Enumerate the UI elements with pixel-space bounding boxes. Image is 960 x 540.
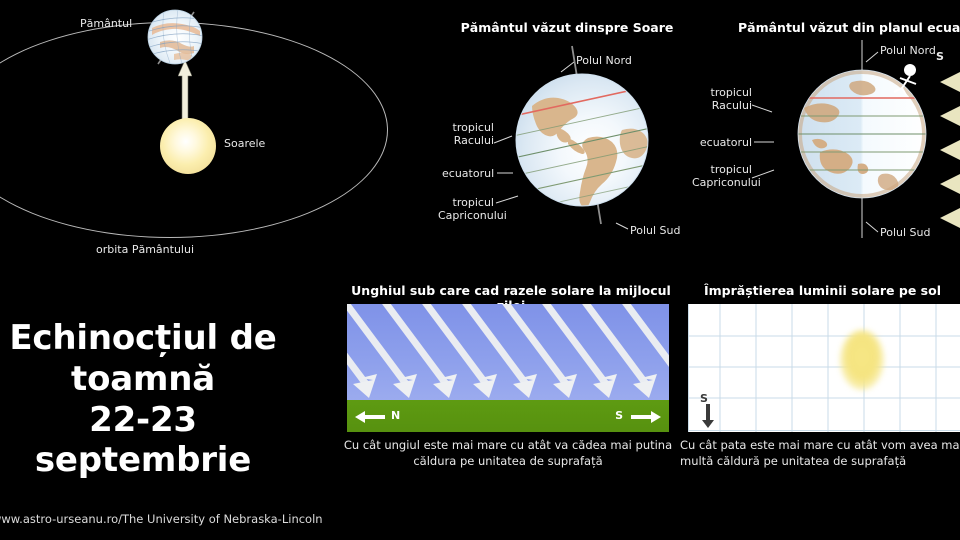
globe-equatorial-view-panel: Pământul văzut din planul ecuatorial (690, 0, 960, 272)
orbit-caption: orbita Pământului (96, 243, 194, 256)
sun-label: Soarele (224, 137, 265, 150)
orbit-panel: Pământul Soarele orbita Pământului (0, 0, 430, 272)
sun-rays-arrows-icon (930, 70, 960, 240)
tropic-capricorn-label: tropicul Capriconului (692, 163, 752, 190)
direction-row: N S (347, 406, 669, 428)
equator-label: ecuatorul (442, 167, 494, 180)
spot-chart-caption: Cu cât pata este mai mare cu atât vom av… (676, 438, 960, 469)
tropic-cancer-label: tropicul Racului (450, 121, 494, 148)
title-line-3: 22-23 septembrie (0, 400, 308, 482)
arrow-right-icon (631, 410, 661, 424)
direction-north-label: N (391, 409, 400, 422)
stick-figure-observer-icon (888, 62, 922, 96)
infographic-canvas: Pământul Soarele orbita Pământului Pămân… (0, 0, 960, 540)
sunlight-arrow-icon (178, 60, 192, 122)
tropic-cancer-label: tropicul Racului (704, 86, 752, 113)
spot-chart-figure: S (688, 304, 960, 432)
north-pole-label: Polul Nord (576, 54, 632, 67)
earth-globe-icon (144, 6, 206, 68)
earth-label: Pământul (80, 17, 132, 30)
equator-label: ecuatorul (696, 136, 752, 149)
south-pole-label: Polul Sud (880, 226, 931, 239)
title-line-2: toamnă (0, 359, 308, 400)
globe-sun-view-panel: Pământul văzut dinspre Soare (438, 0, 696, 272)
arrow-left-icon (355, 410, 385, 424)
angle-chart-panel: Unghiul sub care cad razele solare la mi… (340, 278, 676, 508)
sunlight-spot-icon (840, 330, 884, 390)
sun-label-right: S (936, 50, 944, 63)
title-line-1: Echinocțiul de (0, 318, 308, 359)
angle-chart-caption: Cu cât ungiul este mai mare cu atât va c… (340, 438, 676, 469)
direction-south-label: S (615, 409, 623, 422)
spot-chart-title: Împrăștierea luminii solare pe sol (684, 283, 960, 298)
grid-lines (688, 304, 960, 432)
spot-chart-panel: Împrăștierea luminii solare pe sol (684, 278, 960, 508)
tropic-capricorn-label: tropicul Capriconului (438, 196, 494, 223)
sun-icon (160, 118, 216, 174)
south-pole-label: Polul Sud (630, 224, 681, 237)
main-title-block: Echinocțiul de toamnă 22-23 septembrie (0, 318, 308, 481)
north-pole-label: Polul Nord (880, 44, 936, 57)
angle-chart-figure: N S (347, 304, 669, 432)
arrow-down-icon (701, 404, 715, 428)
source-footer: www.astro-urseanu.ro/The University of N… (0, 512, 323, 526)
